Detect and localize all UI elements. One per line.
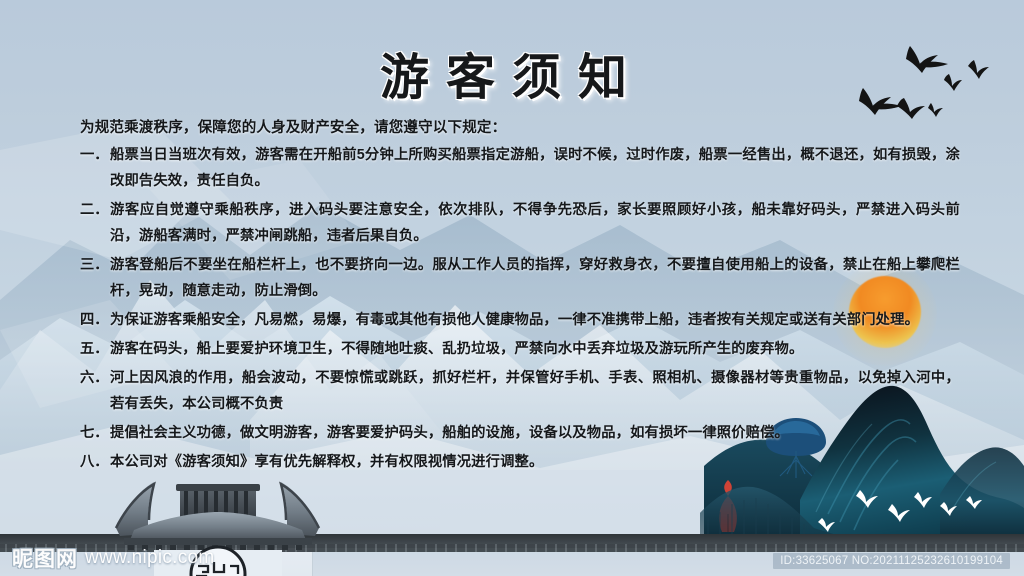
rule-item: 四． 为保证游客乘船安全，凡易燃，易爆，有毒或其他有损他人健康物品，一律不准携带… [80, 307, 960, 333]
rule-number: 三． [80, 252, 110, 278]
rule-number: 八． [80, 449, 110, 475]
watermark-url: www.nipic.com [85, 547, 215, 569]
id-tag: ID:33625067 NO:20211125232610199104 [773, 553, 1010, 569]
rule-number: 五． [80, 336, 110, 362]
rule-item: 一． 船票当日当班次有效，游客需在开船前5分钟上所购买船票指定游船，误时不候，过… [80, 142, 960, 194]
rule-item: 七． 提倡社会主义功德，做文明游客，游客要爱护码头，船舶的设施，设备以及物品，如… [80, 420, 960, 446]
watermark-logo: 昵图网 [12, 543, 78, 573]
rules-list: 一． 船票当日当班次有效，游客需在开船前5分钟上所购买船票指定游船，误时不候，过… [80, 142, 960, 478]
rule-number: 二． [80, 197, 110, 223]
rule-text: 河上因风浪的作用，船会波动，不要惊慌或跳跃，抓好栏杆，并保管好手机、手表、照相机… [110, 365, 960, 417]
rule-text: 为保证游客乘船安全，凡易燃，易爆，有毒或其他有损他人健康物品，一律不准携带上船，… [110, 307, 960, 333]
rule-number: 四． [80, 307, 110, 333]
rule-item: 三． 游客登船后不要坐在船栏杆上，也不要挤向一边。服从工作人员的指挥，穿好救身衣… [80, 252, 960, 304]
rule-item: 二． 游客应自觉遵守乘船秩序，进入码头要注意安全，依次排队，不得争先恐后，家长要… [80, 197, 960, 249]
rule-item: 五． 游客在码头，船上要爱护环境卫生，不得随地吐痰、乱扔垃圾，严禁向水中丢弃垃圾… [80, 336, 960, 362]
rule-text: 提倡社会主义功德，做文明游客，游客要爱护码头，船舶的设施，设备以及物品，如有损坏… [110, 420, 960, 446]
rule-number: 一． [80, 142, 110, 168]
poster-canvas: 游客须知 为规范乘渡秩序，保障您的人身及财产安全，请您遵守以下规定： 一． 船票… [0, 0, 1024, 576]
rule-number: 七． [80, 420, 110, 446]
rule-number: 六． [80, 365, 110, 391]
watermark: 昵图网 www.nipic.com [12, 543, 215, 573]
rule-text: 游客登船后不要坐在船栏杆上，也不要挤向一边。服从工作人员的指挥，穿好救身衣，不要… [110, 252, 960, 304]
rule-text: 游客在码头，船上要爱护环境卫生，不得随地吐痰、乱扔垃圾，严禁向水中丢弃垃圾及游玩… [110, 336, 960, 362]
rule-text: 船票当日当班次有效，游客需在开船前5分钟上所购买船票指定游船，误时不候，过时作废… [110, 142, 960, 194]
rule-text: 游客应自觉遵守乘船秩序，进入码头要注意安全，依次排队，不得争先恐后，家长要照顾好… [110, 197, 960, 249]
rule-item: 六． 河上因风浪的作用，船会波动，不要惊慌或跳跃，抓好栏杆，并保管好手机、手表、… [80, 365, 960, 417]
intro-line: 为规范乘渡秩序，保障您的人身及财产安全，请您遵守以下规定： [80, 116, 506, 137]
